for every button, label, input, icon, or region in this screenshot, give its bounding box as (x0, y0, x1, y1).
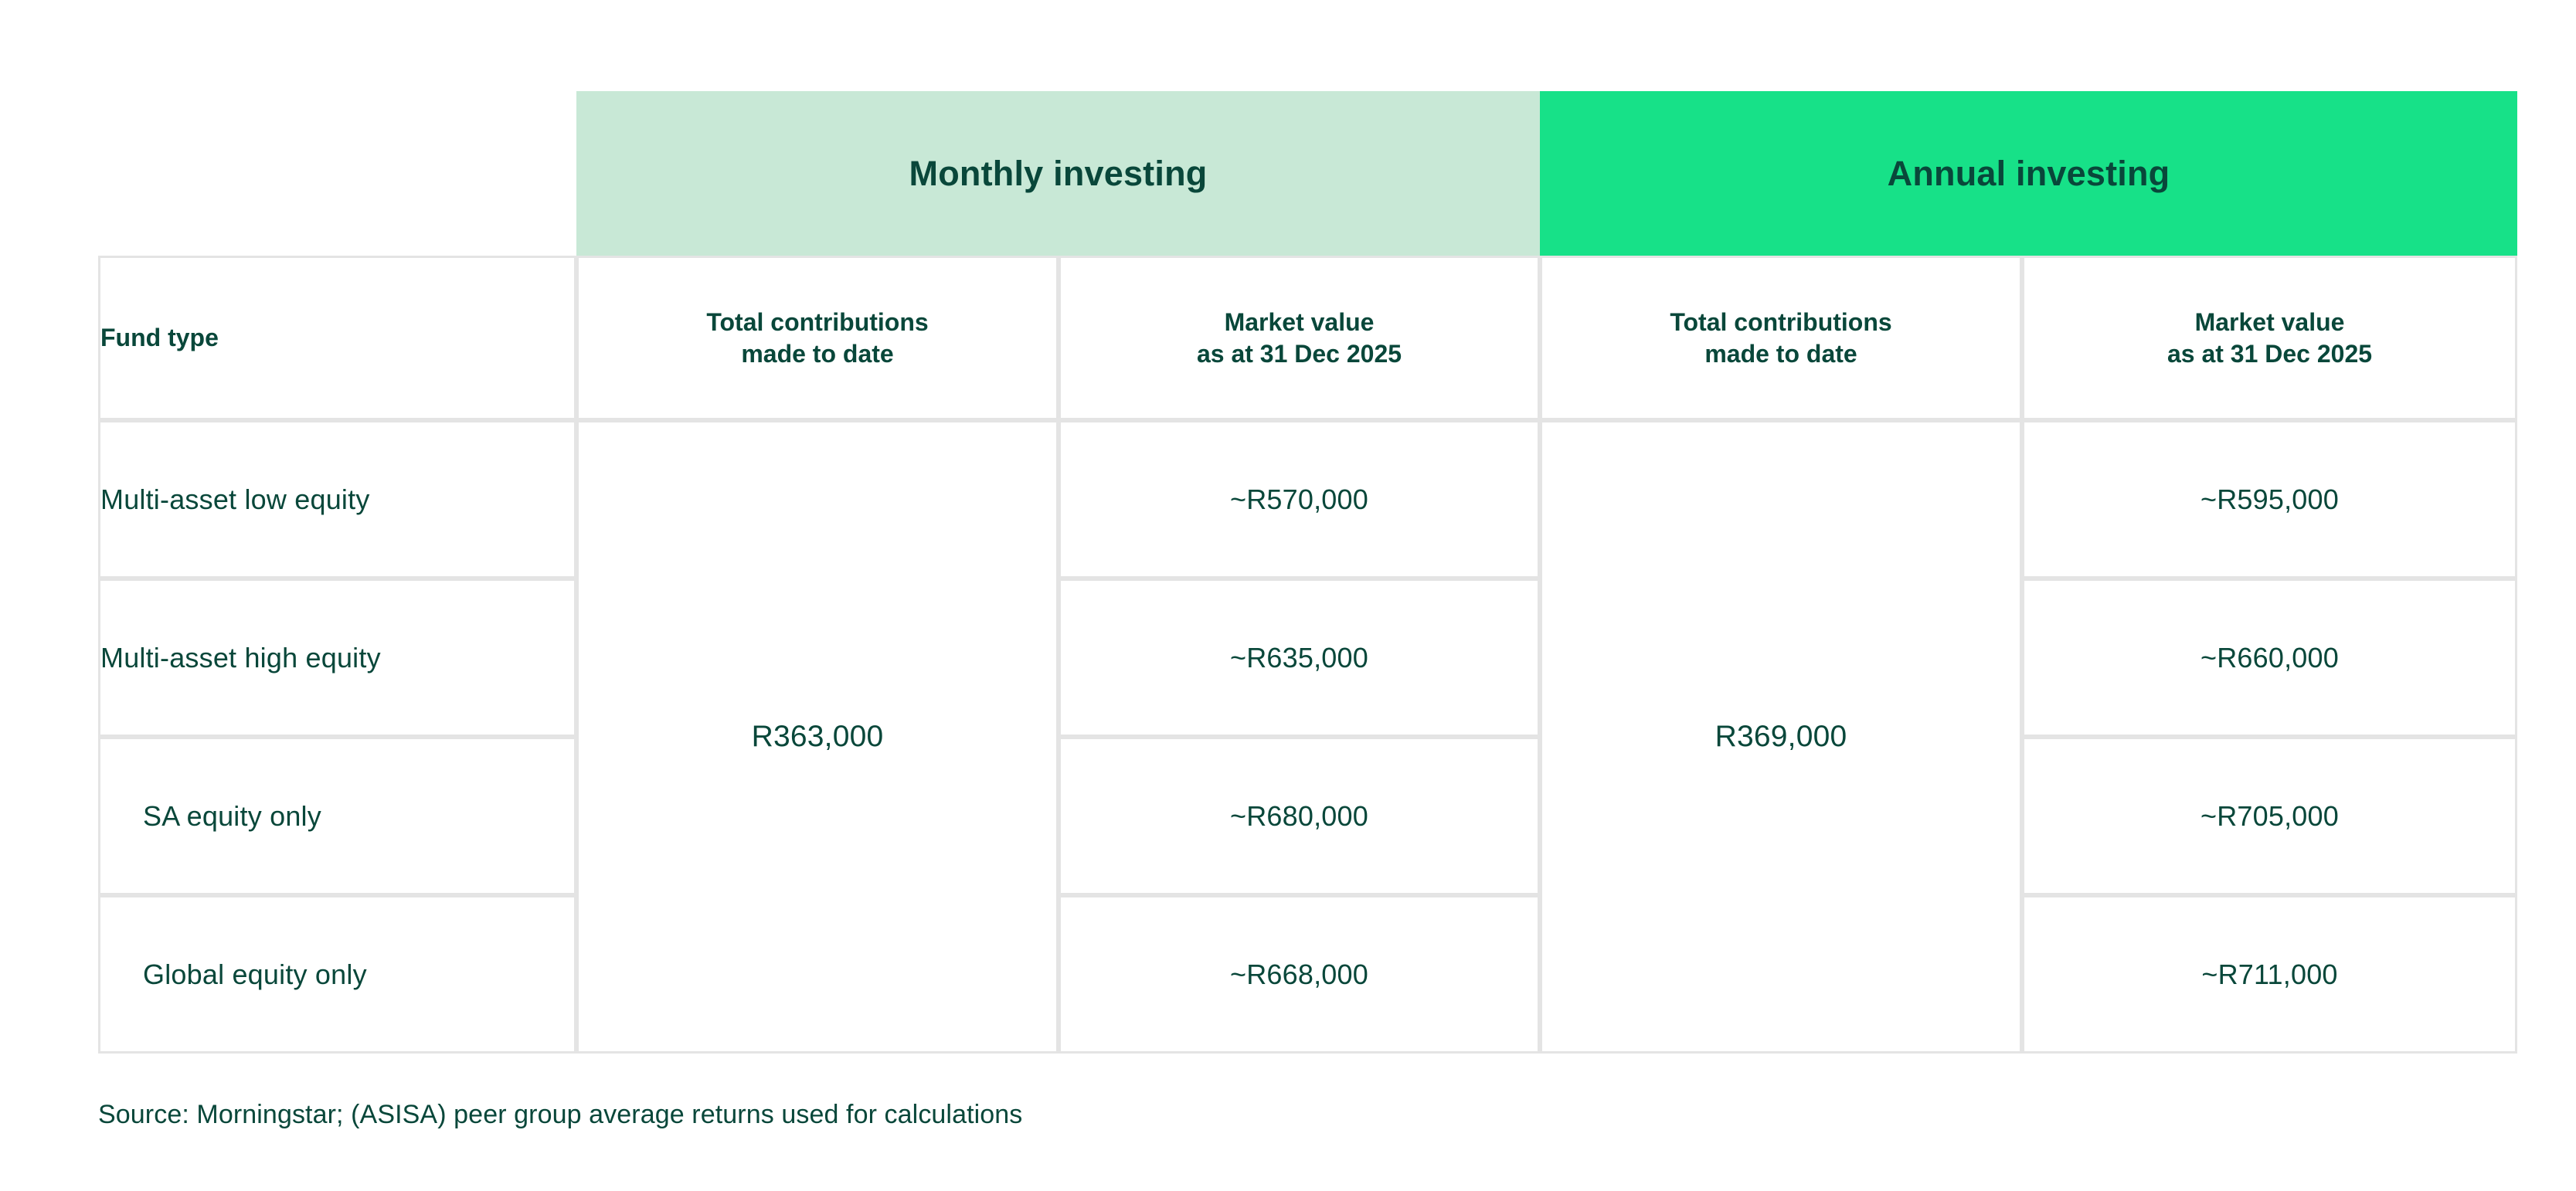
column-header-monthly-total-contributions: Total contributions made to date (576, 256, 1059, 420)
cell-monthly-market-value: ~R668,000 (1059, 895, 1540, 1054)
table-subheader-row: Fund type Total contributions made to da… (98, 256, 2517, 420)
table-row: Multi-asset high equity ~R635,000 ~R660,… (98, 579, 2517, 737)
cell-monthly-market-value: ~R570,000 (1059, 420, 1540, 579)
cell-fund-type: Multi-asset low equity (98, 420, 576, 579)
table-row: SA equity only ~R680,000 ~R705,000 (98, 737, 2517, 895)
monthly-contrib-label-line2: made to date (579, 338, 1056, 370)
cell-fund-type: SA equity only (98, 737, 576, 895)
cell-annual-market-value: ~R711,000 (2022, 895, 2517, 1054)
cell-annual-market-value: ~R660,000 (2022, 579, 2517, 737)
cell-fund-type: Global equity only (98, 895, 576, 1054)
annual-contrib-label-line1: Total contributions (1542, 307, 2020, 338)
annual-value-label-line2: as at 31 Dec 2025 (2024, 338, 2515, 370)
cell-monthly-total-contributions-merged: R363,000 (576, 420, 1059, 1054)
source-footnote: Source: Morningstar; (ASISA) peer group … (98, 1100, 1022, 1130)
cell-annual-market-value: ~R595,000 (2022, 420, 2517, 579)
group-header-annual-investing: Annual investing (1540, 91, 2517, 256)
column-header-fund-type-label: Fund type (100, 324, 219, 351)
cell-fund-type: Multi-asset high equity (98, 579, 576, 737)
group-header-spacer (98, 91, 576, 256)
table-row: Multi-asset low equity R363,000 ~R570,00… (98, 420, 2517, 579)
group-header-band: Monthly investing Annual investing (98, 91, 2517, 256)
annual-value-label-line1: Market value (2024, 307, 2515, 338)
monthly-contrib-label-line1: Total contributions (579, 307, 1056, 338)
monthly-value-label-line2: as at 31 Dec 2025 (1061, 338, 1538, 370)
fund-comparison-table: Fund type Total contributions made to da… (98, 256, 2517, 1054)
table-body: Multi-asset low equity R363,000 ~R570,00… (98, 420, 2517, 1054)
cell-monthly-market-value: ~R680,000 (1059, 737, 1540, 895)
column-header-annual-total-contributions: Total contributions made to date (1540, 256, 2022, 420)
cell-annual-total-contributions-merged: R369,000 (1540, 420, 2022, 1054)
group-header-monthly-label: Monthly investing (909, 154, 1208, 194)
column-header-annual-market-value: Market value as at 31 Dec 2025 (2022, 256, 2517, 420)
annual-contrib-label-line2: made to date (1542, 338, 2020, 370)
cell-annual-market-value: ~R705,000 (2022, 737, 2517, 895)
group-header-annual-label: Annual investing (1888, 154, 2170, 194)
monthly-value-label-line1: Market value (1061, 307, 1538, 338)
table-row: Global equity only ~R668,000 ~R711,000 (98, 895, 2517, 1054)
table-figure-root: Monthly investing Annual investing Fund … (0, 0, 2576, 1191)
group-header-monthly-investing: Monthly investing (576, 91, 1540, 256)
cell-monthly-market-value: ~R635,000 (1059, 579, 1540, 737)
column-header-fund-type: Fund type (98, 256, 576, 420)
table-head: Fund type Total contributions made to da… (98, 256, 2517, 420)
column-header-monthly-market-value: Market value as at 31 Dec 2025 (1059, 256, 1540, 420)
